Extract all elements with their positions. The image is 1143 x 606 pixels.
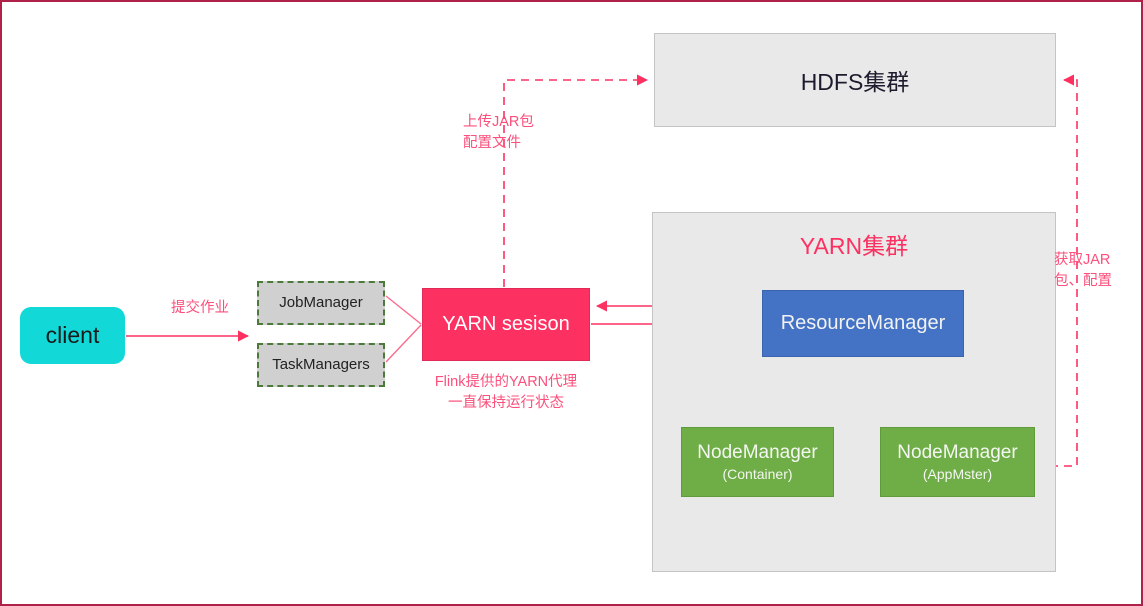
node-client-label: client: [46, 322, 100, 348]
edge-label-upload-jar: 上传JAR包 配置文件: [463, 112, 555, 154]
node-resourcemanager-label: ResourceManager: [781, 312, 946, 335]
node-nodemanager-appmaster-label: NodeManager: [897, 442, 1017, 464]
edge-jobmanager-to-yarn-session: [386, 296, 421, 324]
node-client[interactable]: client: [20, 307, 125, 364]
caption-yarn-session-line2: 一直保持运行状态: [406, 393, 606, 414]
node-nodemanager-appmaster-sublabel: (AppMster): [923, 466, 992, 482]
node-nodemanager-appmaster[interactable]: NodeManager (AppMster): [880, 427, 1035, 497]
edge-label-fetch-jar-line2: 包、配置: [1054, 271, 1138, 292]
node-jobmanager[interactable]: JobManager: [257, 281, 385, 325]
cluster-yarn-label: YARN集群: [653, 227, 1055, 261]
node-taskmanagers[interactable]: TaskManagers: [257, 343, 385, 387]
caption-yarn-session-line1: Flink提供的YARN代理: [406, 372, 606, 393]
node-nodemanager-container-sublabel: (Container): [722, 466, 792, 482]
diagram-canvas: client 提交作业 JobManager TaskManagers YARN…: [0, 0, 1143, 606]
node-yarn-session-label: YARN sesison: [442, 313, 569, 336]
edge-label-submit-job: 提交作业: [152, 298, 248, 319]
node-resourcemanager[interactable]: ResourceManager: [762, 290, 964, 357]
cluster-hdfs-label: HDFS集群: [655, 34, 1055, 126]
edge-label-upload-jar-line1: 上传JAR包: [463, 112, 555, 133]
cluster-yarn[interactable]: YARN集群: [652, 212, 1056, 572]
cluster-hdfs[interactable]: HDFS集群: [654, 33, 1056, 127]
node-nodemanager-container[interactable]: NodeManager (Container): [681, 427, 834, 497]
node-taskmanagers-label: TaskManagers: [272, 356, 370, 373]
node-nodemanager-container-label: NodeManager: [697, 442, 817, 464]
edge-label-upload-jar-line2: 配置文件: [463, 133, 555, 154]
node-jobmanager-label: JobManager: [279, 294, 362, 311]
edge-label-fetch-jar: 获取JAR 包、配置: [1054, 250, 1138, 292]
edge-label-fetch-jar-line1: 获取JAR: [1054, 250, 1138, 271]
edge-taskmanagers-to-yarn-session: [386, 325, 421, 362]
caption-yarn-session: Flink提供的YARN代理 一直保持运行状态: [406, 372, 606, 414]
node-yarn-session[interactable]: YARN sesison: [422, 288, 590, 361]
